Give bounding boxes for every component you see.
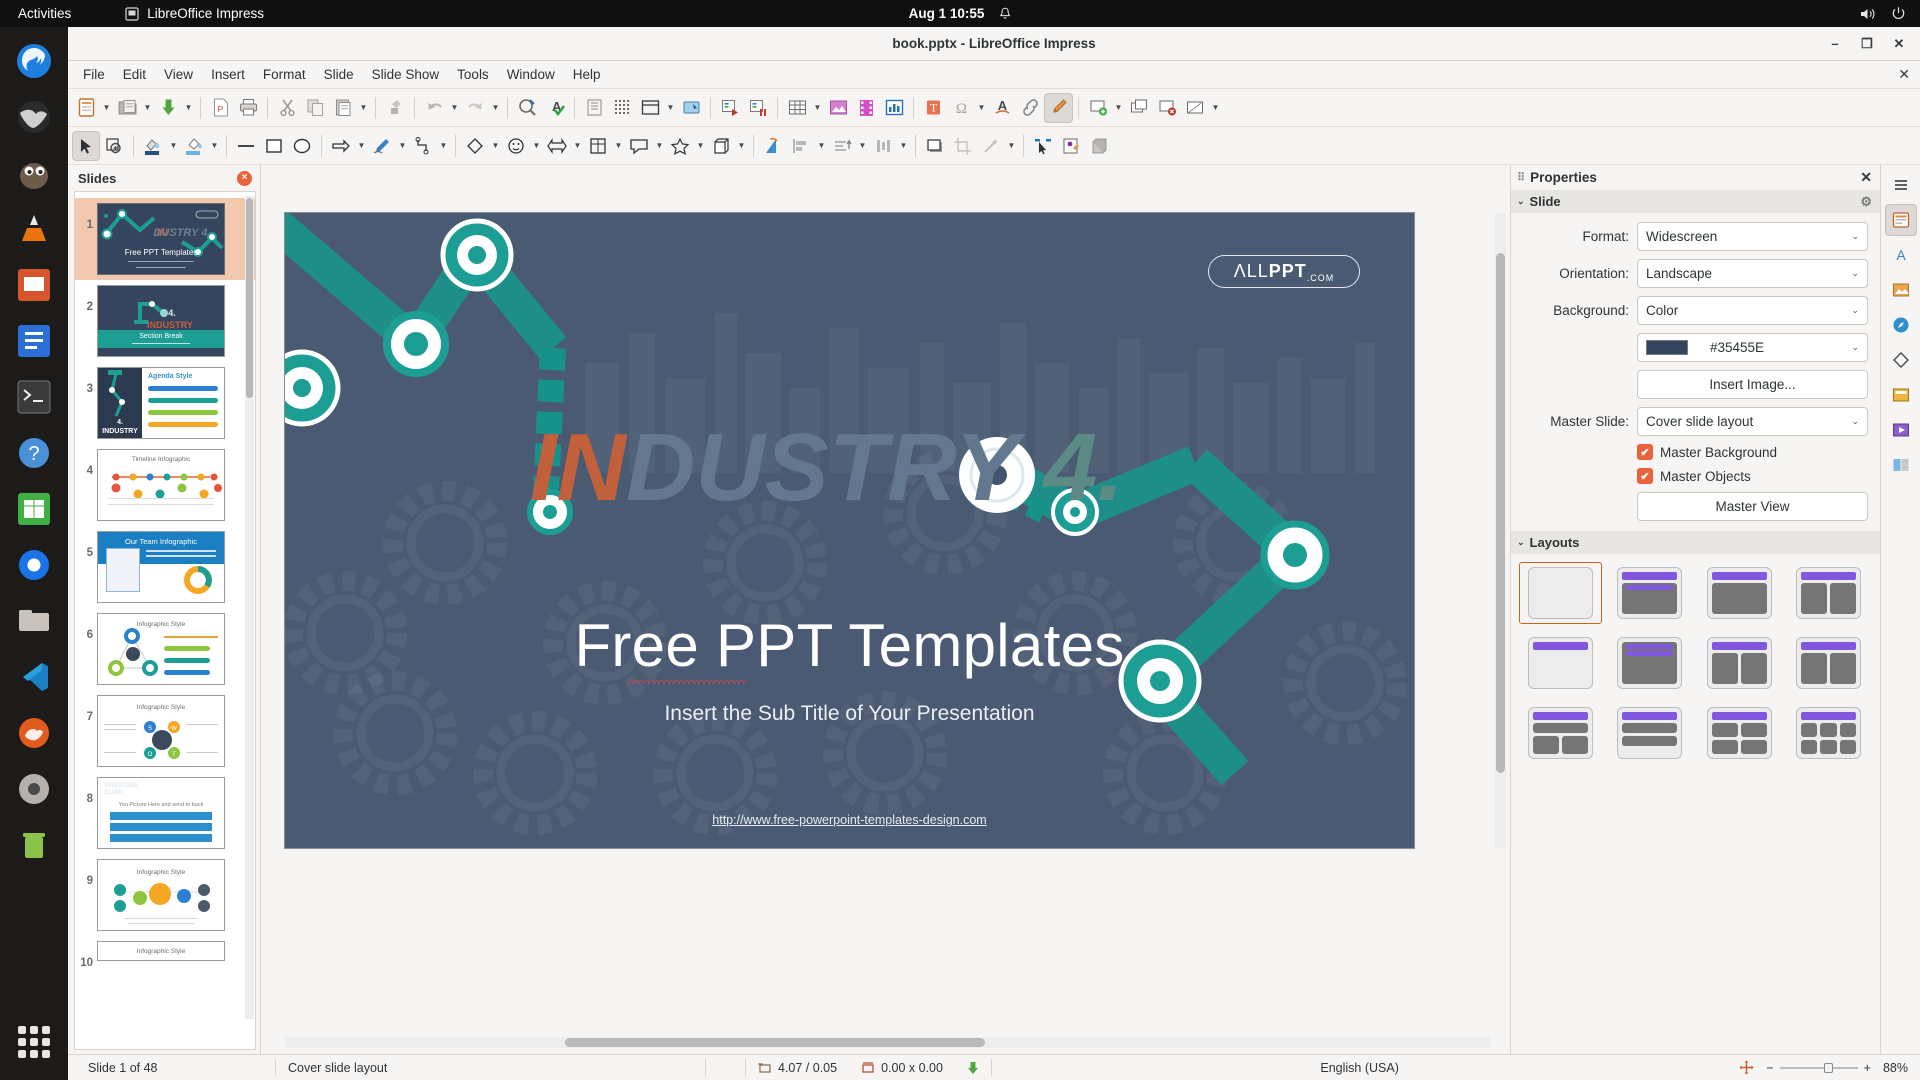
status-size-value: 0.00 x 0.00 (881, 1061, 943, 1075)
slide-subtitle-text[interactable]: Insert the Sub Title of Your Presentatio… (285, 702, 1414, 726)
chevron-down-icon: ⌄ (1851, 416, 1859, 427)
background-color-row: #35455E ⌄ (1517, 333, 1868, 362)
dock-item-trash[interactable] (10, 821, 58, 869)
slide-thumbnail-6[interactable]: 6 Infographic Style (75, 608, 255, 690)
connectors-caret[interactable]: ▼ (437, 141, 450, 150)
distribute-caret[interactable]: ▼ (897, 141, 910, 150)
menu-window[interactable]: Window (498, 64, 564, 85)
drawing-toolbar: ▼ ▼ (68, 127, 1920, 165)
display-views-button[interactable] (636, 93, 664, 123)
insert-image-button[interactable] (824, 93, 852, 123)
flowchart-caret[interactable]: ▼ (612, 141, 625, 150)
delete-slide-button[interactable] (1153, 93, 1181, 123)
canvas-vertical-scrollbar[interactable] (1495, 213, 1506, 848)
close-slides-panel-button[interactable]: × (237, 171, 252, 186)
slide-thumbnail-10[interactable]: 10 Infographic Style (75, 936, 255, 974)
save-document-button[interactable] (154, 93, 182, 123)
callout-caret[interactable]: ▼ (653, 141, 666, 150)
dock-item-vscode[interactable] (10, 653, 58, 701)
duplicate-slide-icon (1129, 97, 1150, 118)
glue-points-button[interactable] (1057, 131, 1085, 161)
slide-title-text[interactable]: Free PPT Templates (285, 611, 1414, 680)
undo-button[interactable] (420, 93, 448, 123)
select-tool-button[interactable] (72, 131, 100, 161)
insert-chart-button[interactable] (880, 93, 908, 123)
master-slide-dropdown[interactable]: Cover slide layout ⌄ (1637, 407, 1868, 436)
slides-list[interactable]: 1 IN DUSTRY (74, 191, 256, 1050)
settings-gear-icon (15, 770, 53, 808)
slide-number: 7 (77, 695, 93, 723)
sidebar-content: ⠿ Properties ✕ ⌄ Slide ⚙ Format: Widescr… (1511, 165, 1880, 1054)
slide-thumbnail-9[interactable]: 9 Infographic Style (75, 854, 255, 936)
symbol-shapes-caret[interactable]: ▼ (530, 141, 543, 150)
layout-title-only[interactable] (1519, 632, 1602, 694)
curves-caret[interactable]: ▼ (396, 141, 409, 150)
volume-icon (1860, 7, 1877, 21)
slide-thumbnail-7[interactable]: 7 Infographic Style S W O T (75, 690, 255, 772)
libreoffice-impress-window: book.pptx - LibreOffice Impress – ❐ ✕ Fi… (68, 27, 1920, 1080)
stars-and-banners-button[interactable] (666, 131, 694, 161)
line-color-icon (142, 135, 164, 157)
textbox-icon: T (923, 97, 944, 118)
sidebar-tab-gallery[interactable] (1885, 274, 1917, 306)
robotic-arm-art (285, 213, 1414, 848)
slide-thumbnail-4[interactable]: 4 Timeline Infographic (75, 444, 255, 526)
toolbar-separator (267, 97, 268, 119)
svg-text:4.: 4. (168, 308, 176, 318)
svg-text:W: W (171, 726, 177, 732)
canvas-horizontal-scrollbar[interactable] (285, 1037, 1490, 1048)
impress-dock-icon (15, 266, 53, 304)
sidebar-tab-slide-transition[interactable] (1885, 449, 1917, 481)
insert-special-character-button[interactable]: Ω (947, 93, 975, 123)
svg-text:Ω: Ω (955, 101, 966, 117)
dock-item-mozilla[interactable] (10, 709, 58, 757)
status-fit-slide[interactable] (1727, 1060, 1766, 1075)
scissors-icon (277, 97, 298, 118)
slides-panel-scrollbar[interactable] (245, 196, 254, 1019)
insert-fontwork-button[interactable]: A (988, 93, 1016, 123)
new-slide-button[interactable] (1084, 93, 1112, 123)
chevron-down-icon: ⌄ (1851, 231, 1859, 242)
curves-and-polygons-button[interactable] (368, 131, 396, 161)
menu-insert[interactable]: Insert (202, 64, 254, 85)
dock-item-terminal[interactable] (10, 373, 58, 421)
insert-line-button[interactable] (232, 131, 260, 161)
background-color-hex: #35455E (1710, 340, 1764, 355)
zoom-slider[interactable]: − + (1766, 1061, 1871, 1075)
gnome-clock[interactable]: Aug 1 10:55 (909, 6, 1012, 21)
start-from-current-slide-button[interactable] (744, 93, 772, 123)
background-dropdown[interactable]: Color ⌄ (1637, 296, 1868, 325)
filter-caret[interactable]: ▼ (1005, 141, 1018, 150)
clone-formatting-button[interactable] (381, 93, 409, 123)
maximize-button[interactable]: ❐ (1852, 31, 1882, 57)
toggle-extrusion-button[interactable] (1085, 131, 1113, 161)
layout-six-content[interactable] (1787, 702, 1870, 764)
slide-thumbnail-image: IN DUSTRY 4. Free PPT Templates (97, 203, 225, 275)
close-button[interactable]: ✕ (1884, 31, 1914, 57)
master-slide-button[interactable] (677, 93, 705, 123)
insert-table-button[interactable] (783, 93, 811, 123)
mozilla-icon (15, 714, 53, 752)
slide-thumbnail-image: 4. INDUSTRY Agenda Style (97, 367, 225, 439)
chart-icon (884, 97, 905, 118)
slides-panel-scrollbar-thumb[interactable] (246, 198, 253, 398)
connectors-button[interactable] (409, 131, 437, 161)
block-arrows-button[interactable] (543, 131, 571, 161)
zoom-in-button[interactable]: + (1864, 1061, 1871, 1075)
canvas-hscrollbar-thumb[interactable] (565, 1038, 985, 1047)
layout-thumb (1796, 707, 1861, 759)
slide-section-header[interactable]: ⌄ Slide ⚙ (1511, 190, 1880, 213)
master-slide-value: Cover slide layout (1646, 414, 1753, 429)
sidebar-menu-button[interactable] (1885, 169, 1917, 201)
hamburger-icon (1892, 176, 1910, 194)
thumb-art-cover: IN DUSTRY 4. Free PPT Templates (98, 204, 224, 274)
vlc-icon (14, 209, 54, 249)
film-icon (856, 97, 877, 118)
allppt-logo-light: ΛLL (1234, 261, 1269, 282)
insert-audio-video-button[interactable] (852, 93, 880, 123)
undo-arrow-icon (424, 97, 445, 118)
start-from-first-slide-button[interactable] (716, 93, 744, 123)
rectangle-button[interactable] (260, 131, 288, 161)
size-icon (861, 1062, 875, 1074)
insert-hyperlink-button[interactable] (1016, 93, 1044, 123)
slide-thumbnail-image: 4. INDUSTRY Section Break (97, 285, 225, 357)
chevron-down-icon: ⌄ (1517, 537, 1525, 548)
status-zoom-level[interactable]: 88% (1871, 1061, 1912, 1075)
slide-number: 8 (77, 777, 93, 805)
magic-wand-icon (980, 136, 1002, 156)
slide-thumbnail-1[interactable]: 1 IN DUSTRY (75, 198, 255, 280)
layouts-section-header[interactable]: ⌄ Layouts (1511, 531, 1880, 554)
basic-shapes-caret[interactable]: ▼ (489, 141, 502, 150)
layout-four-content[interactable] (1698, 702, 1781, 764)
animation-icon (1891, 420, 1911, 440)
lines-and-arrows-button[interactable] (327, 131, 355, 161)
thumb-art-team: Our Team Infographic (98, 532, 224, 602)
format-row: Format: Widescreen ⌄ (1517, 222, 1868, 251)
properties-sidebar: ⠿ Properties ✕ ⌄ Slide ⚙ Format: Widescr… (1510, 165, 1920, 1054)
open-document-button[interactable] (113, 93, 141, 123)
slide-number: 10 (77, 941, 93, 969)
fit-slide-icon (1739, 1060, 1754, 1075)
filter-button[interactable] (977, 131, 1005, 161)
menu-file[interactable]: File (74, 64, 114, 85)
paste-caret[interactable]: ▼ (357, 103, 370, 112)
sidebar-title: Properties (1530, 170, 1597, 185)
distribute-selection-button[interactable] (869, 131, 897, 161)
sidebar-tab-styles[interactable]: A (1885, 239, 1917, 271)
shadow-button[interactable] (921, 131, 949, 161)
3d-objects-button[interactable] (707, 131, 735, 161)
apps-dot (30, 1026, 38, 1034)
thumb-art-partial: Infographic Style (98, 942, 224, 960)
insert-table-caret[interactable]: ▼ (811, 103, 824, 112)
window-title: book.pptx - LibreOffice Impress (892, 36, 1095, 51)
line-color-button[interactable] (139, 131, 167, 161)
display-views-caret[interactable]: ▼ (664, 103, 677, 112)
close-document-button[interactable]: ✕ (1898, 66, 1910, 83)
layout-centered-text[interactable] (1608, 632, 1691, 694)
dock-item-vlc[interactable] (10, 205, 58, 253)
menu-view[interactable]: View (155, 64, 202, 85)
background-value: Color (1646, 303, 1678, 318)
minimize-button[interactable]: – (1820, 31, 1850, 57)
spellcheck-squiggle (629, 679, 747, 684)
sidebar-close-button[interactable]: ✕ (1860, 169, 1872, 186)
image-icon (828, 97, 849, 118)
folder-icon (117, 97, 138, 118)
menu-format[interactable]: Format (254, 64, 315, 85)
apps-dot (18, 1026, 26, 1034)
system-tray[interactable] (1860, 6, 1906, 21)
layout-blank[interactable] (1519, 562, 1602, 624)
save-indicator-icon (967, 1061, 979, 1075)
menu-tools[interactable]: Tools (448, 64, 498, 85)
status-language[interactable]: English (USA) (992, 1061, 1727, 1075)
compass-icon (1891, 315, 1911, 335)
layouts-grid (1511, 554, 1880, 774)
formatting-marks-button[interactable] (580, 93, 608, 123)
new-slide-caret[interactable]: ▼ (1112, 103, 1125, 112)
sidebar-grip-icon[interactable]: ⠿ (1517, 171, 1524, 184)
background-color-swatch (1646, 340, 1688, 355)
layout-thumb (1707, 567, 1772, 619)
master-view-button[interactable]: Master View (1637, 492, 1868, 521)
crop-image-button[interactable] (949, 131, 977, 161)
dock-item-gimp[interactable] (10, 149, 58, 197)
slide-section-body: Format: Widescreen ⌄ Orientation: Landsc… (1511, 213, 1880, 531)
insert-text-box-button[interactable]: T (919, 93, 947, 123)
zoom-in-icon (104, 136, 124, 156)
slide-thumbnail-2[interactable]: 2 4. INDUSTRY Sec (75, 280, 255, 362)
new-document-caret[interactable]: ▼ (100, 103, 113, 112)
layout-thumb (1617, 707, 1682, 759)
master-slide-label: Master Slide: (1517, 414, 1629, 429)
display-grid-button[interactable] (608, 93, 636, 123)
slide-thumbnail-image: Our Team Infographic (97, 531, 225, 603)
fill-color-caret[interactable]: ▼ (208, 141, 221, 150)
dock-item-help[interactable]: ? (10, 429, 58, 477)
gallery-icon (1891, 280, 1911, 300)
master-objects-checkbox[interactable]: ✔ Master Objects (1637, 468, 1751, 484)
layout-title-single-content[interactable] (1698, 562, 1781, 624)
paste-button[interactable] (329, 93, 357, 123)
thumb-art-triangle: Infographic Style (98, 614, 224, 684)
sidebar-tab-shapes[interactable] (1885, 344, 1917, 376)
status-spacer (706, 1059, 746, 1076)
layout-title-content[interactable] (1608, 562, 1691, 624)
slide-edit-area: INDUSTRY 4. ΛLL PPT .COM Free PPT Templa… (261, 165, 1510, 1054)
slide-number: 2 (77, 285, 93, 313)
sidebar-tab-properties[interactable] (1885, 204, 1917, 236)
save-document-caret[interactable]: ▼ (182, 103, 195, 112)
slide-properties-caret[interactable]: ▼ (1209, 103, 1222, 112)
dock-item-thunderbird[interactable] (10, 93, 58, 141)
insert-image-row: Insert Image... (1517, 370, 1868, 399)
extrusion-icon (1088, 136, 1110, 156)
arrange-caret[interactable]: ▼ (856, 141, 869, 150)
canvas-vscrollbar-thumb[interactable] (1496, 253, 1505, 773)
zoom-knob[interactable] (1824, 1063, 1833, 1073)
master-view-row: Master View (1517, 492, 1868, 521)
thumb-art-table: AWESOMESLIDE You Picture Here and send t… (98, 778, 224, 848)
clipboard-icon (333, 97, 354, 118)
redo-caret[interactable]: ▼ (489, 103, 502, 112)
toolbar-separator (915, 135, 916, 157)
slide-thumbnail-image: Infographic Style (97, 859, 225, 931)
master-background-checkbox[interactable]: ✔ Master Background (1637, 444, 1777, 460)
zoom-out-button[interactable]: − (1766, 1061, 1773, 1075)
menu-help[interactable]: Help (564, 64, 610, 85)
format-dropdown[interactable]: Widescreen ⌄ (1637, 222, 1868, 251)
slide-thumbnail-3[interactable]: 3 4. INDUSTRY Agenda Style (75, 362, 255, 444)
new-document-button[interactable] (72, 93, 100, 123)
callout-shapes-button[interactable] (625, 131, 653, 161)
show-applications-button[interactable] (14, 1022, 54, 1062)
ellipse-button[interactable] (288, 131, 316, 161)
show-draw-functions-button[interactable] (1044, 93, 1073, 123)
zoom-tool-button[interactable] (100, 131, 128, 161)
toolbar-separator (1078, 97, 1079, 119)
rotate-icon (762, 136, 784, 156)
presentation-pause-icon (748, 97, 769, 118)
slide-number: 4 (77, 449, 93, 477)
help-icon: ? (15, 434, 53, 472)
slide-url-link[interactable]: http://www.free-powerpoint-templates-des… (285, 813, 1414, 827)
standard-toolbar: ▼ ▼ ▼ P (68, 89, 1920, 127)
svg-text:DUSTRY 4.: DUSTRY 4. (153, 227, 210, 239)
slide-canvas[interactable]: INDUSTRY 4. ΛLL PPT .COM Free PPT Templa… (285, 213, 1414, 848)
thunderbird-icon (14, 97, 54, 137)
find-replace-button[interactable] (513, 93, 541, 123)
print-button[interactable] (234, 93, 262, 123)
active-app-indicator[interactable]: LibreOffice Impress (125, 6, 264, 21)
flowchart-icon (587, 136, 609, 156)
dock-item-impress[interactable] (10, 261, 58, 309)
duplicate-slide-button[interactable] (1125, 93, 1153, 123)
layout-content-over-two-content[interactable] (1787, 632, 1870, 694)
activities-button[interactable]: Activities (0, 6, 85, 21)
master-slide-row: Master Slide: Cover slide layout ⌄ (1517, 407, 1868, 436)
align-objects-button[interactable] (787, 131, 815, 161)
background-label: Background: (1517, 303, 1629, 318)
slide-properties-button[interactable] (1181, 93, 1209, 123)
align-caret[interactable]: ▼ (815, 141, 828, 150)
slides-panel-title: Slides (78, 171, 116, 186)
distribute-icon (872, 136, 894, 156)
dock-item-chrome[interactable] (10, 541, 58, 589)
block-arrows-caret[interactable]: ▼ (571, 141, 584, 150)
open-document-caret[interactable]: ▼ (141, 103, 154, 112)
layout-title-two-content[interactable] (1787, 562, 1870, 624)
rotate-button[interactable] (759, 131, 787, 161)
status-object-size: 0.00 x 0.00 (849, 1061, 955, 1075)
master-objects-label: Master Objects (1660, 469, 1751, 484)
orientation-dropdown[interactable]: Landscape ⌄ (1637, 259, 1868, 288)
toolbar-separator (200, 97, 201, 119)
copy-button[interactable] (301, 93, 329, 123)
insert-image-button[interactable]: Insert Image... (1637, 370, 1868, 399)
arrow-icon (330, 136, 352, 156)
workspace: Slides × 1 (68, 165, 1920, 1054)
gear-icon[interactable]: ⚙ (1860, 194, 1872, 210)
sidebar-tab-master-slides[interactable] (1885, 379, 1917, 411)
sidebar-tab-animation[interactable] (1885, 414, 1917, 446)
arrange-button[interactable] (828, 131, 856, 161)
toolbar-separator (414, 97, 415, 119)
symbol-shapes-button[interactable] (502, 131, 530, 161)
redo-button[interactable] (461, 93, 489, 123)
slide-thumbnail-5[interactable]: 5 Our Team Infographic (75, 526, 255, 608)
3d-objects-caret[interactable]: ▼ (735, 141, 748, 150)
dock-item-files[interactable] (10, 597, 58, 645)
dock-item-calc[interactable] (10, 485, 58, 533)
apps-dot (42, 1026, 50, 1034)
menu-slide[interactable]: Slide (315, 64, 363, 85)
flowchart-shapes-button[interactable] (584, 131, 612, 161)
stars-caret[interactable]: ▼ (694, 141, 707, 150)
slide-thumbnail-image: AWESOMESLIDE You Picture Here and send t… (97, 777, 225, 849)
status-layout-name: Cover slide layout (276, 1059, 706, 1076)
apps-dot (42, 1050, 50, 1058)
layout-thumb (1796, 567, 1861, 619)
thumb-art-swot: Infographic Style S W O T (98, 696, 224, 766)
cut-button[interactable] (273, 93, 301, 123)
spelling-button[interactable]: A (541, 93, 569, 123)
layout-two-content-over-content[interactable] (1698, 632, 1781, 694)
zoom-track[interactable] (1780, 1067, 1858, 1069)
menu-edit[interactable]: Edit (114, 64, 155, 85)
writer-icon (15, 322, 53, 360)
points-button[interactable] (1029, 131, 1057, 161)
layout-thumb (1796, 637, 1861, 689)
menu-slide-show[interactable]: Slide Show (363, 64, 449, 85)
sidebar-tab-navigator[interactable] (1885, 309, 1917, 341)
properties-icon (1891, 210, 1911, 230)
undo-caret[interactable]: ▼ (448, 103, 461, 112)
layout-content-two-content[interactable] (1519, 702, 1602, 764)
link-icon (1020, 97, 1041, 118)
export-pdf-button[interactable]: P (206, 93, 234, 123)
special-character-caret[interactable]: ▼ (975, 103, 988, 112)
dock-item-settings[interactable] (10, 765, 58, 813)
dock-item-firefox[interactable] (10, 37, 58, 85)
line-color-caret[interactable]: ▼ (167, 141, 180, 150)
callout-icon (628, 136, 650, 156)
toolbar-separator (455, 135, 456, 157)
toolbar-separator (753, 135, 754, 157)
apps-dot (42, 1038, 50, 1046)
slides-panel: Slides × 1 (68, 165, 261, 1054)
basic-shapes-button[interactable] (461, 131, 489, 161)
window-title-bar: book.pptx - LibreOffice Impress – ❐ ✕ (68, 27, 1920, 61)
dock-item-writer[interactable] (10, 317, 58, 365)
layout-three-content-rows[interactable] (1608, 702, 1691, 764)
lines-arrows-caret[interactable]: ▼ (355, 141, 368, 150)
chevron-down-icon: ⌄ (1851, 305, 1859, 316)
layouts-section-title: Layouts (1530, 535, 1580, 550)
fill-color-button[interactable] (180, 131, 208, 161)
impress-app-icon (125, 7, 139, 21)
status-save-indicator[interactable] (955, 1059, 992, 1076)
background-color-dropdown[interactable]: #35455E ⌄ (1637, 333, 1868, 362)
slide-thumbnail-8[interactable]: 8 AWESOMESLIDE You Picture Here and send… (75, 772, 255, 854)
toolbar-separator (710, 97, 711, 119)
